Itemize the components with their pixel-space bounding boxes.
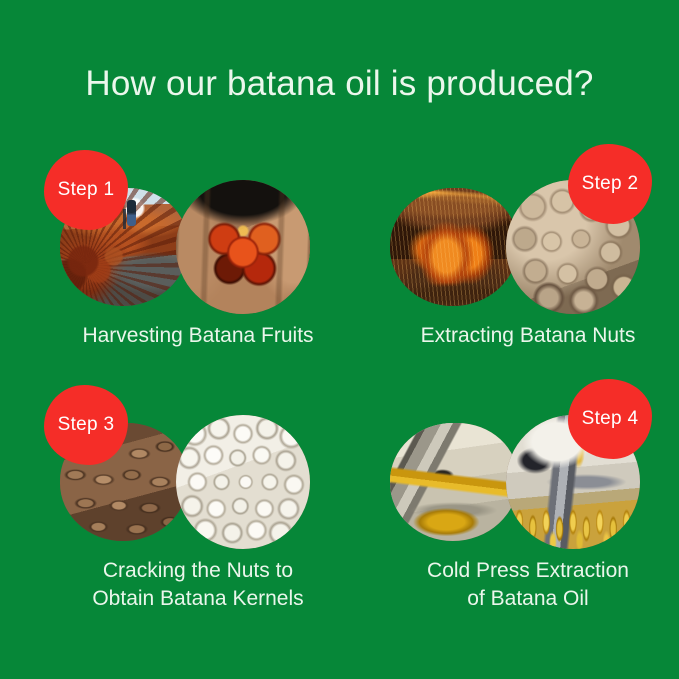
mash-pouring-into-wooden-vessel-photo — [390, 188, 518, 306]
step-2-caption: Extracting Batana Nuts — [368, 322, 679, 350]
step-1-caption: Harvesting Batana Fruits — [38, 322, 358, 350]
step-3-caption-line-1: Cracking the Nuts to — [38, 557, 358, 585]
step-2-media: Step 2 — [368, 150, 679, 315]
step-3-caption-line-2: Obtain Batana Kernels — [38, 585, 358, 613]
step-1-media: Step 1 — [38, 150, 358, 315]
step-2-caption-line-1: Extracting Batana Nuts — [368, 322, 679, 350]
step-3-badge: Step 3 — [44, 385, 128, 465]
step-3-media: Step 3 — [38, 385, 358, 550]
step-1-image-right — [176, 180, 310, 314]
step-4-badge: Step 4 — [568, 379, 652, 459]
step-card-3: Step 3 Cracking the Nuts to Obtain Batan… — [38, 385, 358, 615]
step-4-caption-line-1: Cold Press Extraction — [368, 557, 679, 585]
step-1-badge: Step 1 — [44, 150, 128, 230]
step-card-1: Step 1 Harvesting Batana Fruits — [38, 150, 358, 380]
step-3-caption: Cracking the Nuts to Obtain Batana Kerne… — [38, 557, 358, 612]
step-2-badge: Step 2 — [568, 144, 652, 224]
step-4-caption-line-2: of Batana Oil — [368, 585, 679, 613]
hands-holding-batana-fruits-photo — [176, 180, 310, 314]
step-card-2: Step 2 Extracting Batana Nuts — [368, 150, 679, 380]
step-4-image-left — [390, 423, 518, 541]
step-card-4: Step 4 Cold Press Extraction of Batana O… — [368, 385, 679, 615]
page-title: How our batana oil is produced? — [0, 65, 679, 104]
oil-pouring-from-press-spout-photo — [390, 423, 518, 541]
step-4-caption: Cold Press Extraction of Batana Oil — [368, 557, 679, 612]
step-1-caption-line-1: Harvesting Batana Fruits — [38, 322, 358, 350]
step-3-image-right — [176, 415, 310, 549]
step-4-media: Step 4 — [368, 385, 679, 550]
step-2-image-left — [390, 188, 518, 306]
infographic-canvas: How our batana oil is produced? Step 1 H… — [0, 0, 679, 679]
white-batana-kernels-photo — [176, 415, 310, 549]
